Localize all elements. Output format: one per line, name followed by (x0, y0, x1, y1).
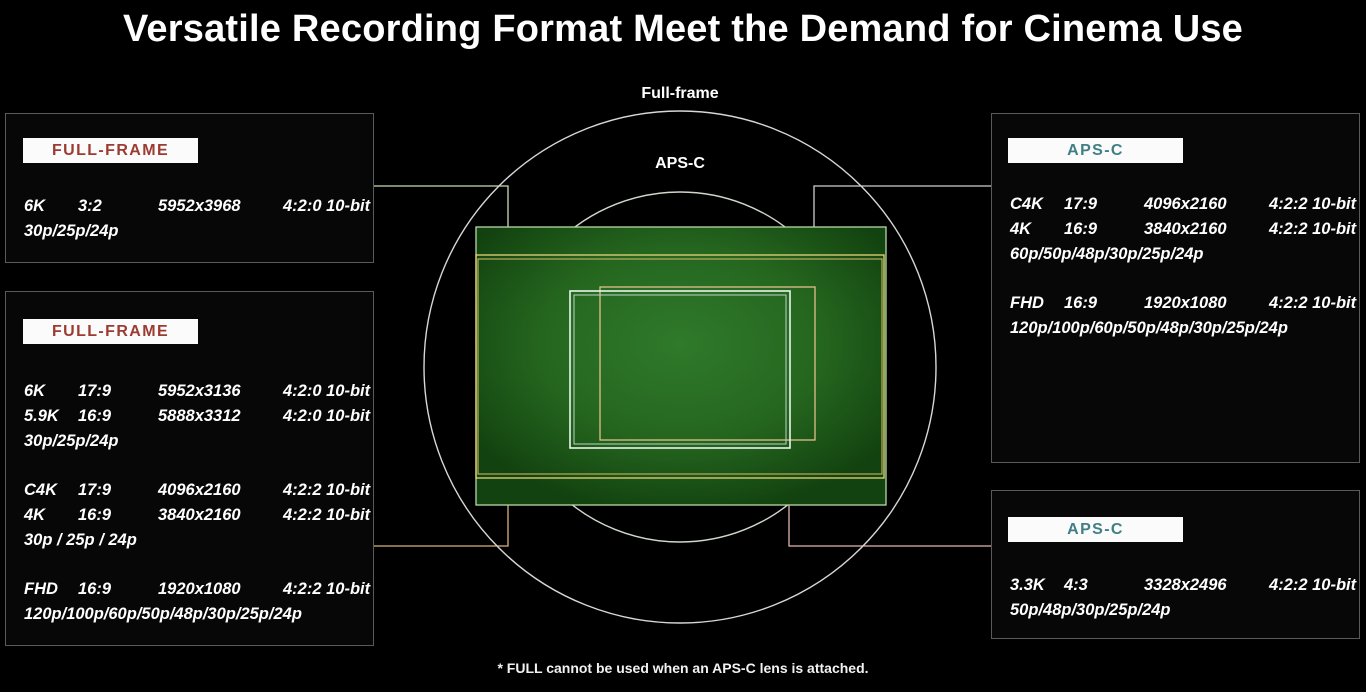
spec-resolution: 3.3K (1010, 573, 1064, 598)
connector-top-left (374, 186, 508, 228)
spec-pixels: 3840x2160 (1144, 217, 1269, 242)
spec-framerates: 50p/48p/30p/25p/24p (1010, 598, 1351, 623)
spec-resolution: FHD (24, 577, 78, 602)
spec-row: 6K17:95952x31364:2:0 10-bit (24, 379, 365, 404)
spec-pixels: 4096x2160 (1144, 192, 1269, 217)
spec-framerates: 60p/50p/48p/30p/25p/24p (1010, 242, 1351, 267)
panel-full-frame-top-left: FULL-FRAME 6K3:25952x39684:2:0 10-bit30p… (5, 113, 374, 263)
spec-resolution: 4K (24, 503, 78, 528)
spec-row: 6K3:25952x39684:2:0 10-bit (24, 194, 365, 219)
spec-pixels: 5952x3968 (158, 194, 283, 219)
spec-row: FHD16:91920x10804:2:2 10-bit (1010, 291, 1351, 316)
spec-framerates: 120p/100p/60p/50p/48p/30p/25p/24p (1010, 316, 1351, 341)
spec-color-format: 4:2:0 10-bit (283, 194, 370, 219)
full-frame-3-2-rect (476, 227, 886, 505)
spec-framerates: 120p/100p/60p/50p/48p/30p/25p/24p (24, 602, 365, 627)
spec-resolution: 6K (24, 194, 78, 219)
spec-aspect-ratio: 4:3 (1064, 573, 1144, 598)
diagram-label-full-frame: Full-frame (540, 85, 820, 103)
spec-color-format: 4:2:0 10-bit (283, 379, 370, 404)
spec-pixels: 3840x2160 (158, 503, 283, 528)
spec-color-format: 4:2:2 10-bit (283, 503, 370, 528)
footnote: * FULL cannot be used when an APS-C lens… (0, 660, 1366, 676)
slide-canvas: Versatile Recording Format Meet the Dema… (0, 0, 1366, 692)
spec-aspect-ratio: 16:9 (78, 404, 158, 429)
spec-resolution: C4K (1010, 192, 1064, 217)
spec-aspect-ratio: 3:2 (78, 194, 158, 219)
spec-resolution: FHD (1010, 291, 1064, 316)
panel-full-frame-bottom-left: FULL-FRAME 6K17:95952x31364:2:0 10-bit5.… (5, 291, 374, 646)
spec-list-bottom-right: 3.3K4:33328x24964:2:2 10-bit50p/48p/30p/… (1010, 573, 1351, 623)
spec-row: 3.3K4:33328x24964:2:2 10-bit (1010, 573, 1351, 598)
spec-row: FHD16:91920x10804:2:2 10-bit (24, 577, 365, 602)
spec-row: C4K17:94096x21604:2:2 10-bit (24, 478, 365, 503)
spec-aspect-ratio: 16:9 (78, 577, 158, 602)
spec-color-format: 4:2:2 10-bit (1269, 573, 1356, 598)
spec-aspect-ratio: 17:9 (78, 478, 158, 503)
spec-aspect-ratio: 16:9 (1064, 291, 1144, 316)
spec-spacer (24, 454, 365, 478)
spec-spacer (1010, 267, 1351, 291)
spec-color-format: 4:2:2 10-bit (283, 577, 370, 602)
badge-aps-c: APS-C (1008, 138, 1183, 163)
spec-color-format: 4:2:2 10-bit (1269, 192, 1356, 217)
spec-color-format: 4:2:2 10-bit (283, 478, 370, 503)
spec-row: 4K16:93840x21604:2:2 10-bit (1010, 217, 1351, 242)
panel-aps-c-top-right: APS-C C4K17:94096x21604:2:2 10-bit4K16:9… (991, 113, 1360, 463)
spec-color-format: 4:2:2 10-bit (1269, 217, 1356, 242)
badge-full-frame: FULL-FRAME (23, 138, 198, 163)
panel-aps-c-bottom-right: APS-C 3.3K4:33328x24964:2:2 10-bit50p/48… (991, 490, 1360, 639)
spec-pixels: 1920x1080 (1144, 291, 1269, 316)
spec-color-format: 4:2:2 10-bit (1269, 291, 1356, 316)
spec-pixels: 5888x3312 (158, 404, 283, 429)
spec-row: 5.9K16:95888x33124:2:0 10-bit (24, 404, 365, 429)
spec-list-bottom-left: 6K17:95952x31364:2:0 10-bit5.9K16:95888x… (24, 379, 365, 627)
badge-full-frame: FULL-FRAME (23, 319, 198, 344)
spec-resolution: 4K (1010, 217, 1064, 242)
spec-framerates: 30p/25p/24p (24, 219, 365, 244)
spec-spacer (24, 553, 365, 577)
spec-framerates: 30p/25p/24p (24, 429, 365, 454)
spec-aspect-ratio: 17:9 (78, 379, 158, 404)
spec-aspect-ratio: 16:9 (1064, 217, 1144, 242)
spec-aspect-ratio: 16:9 (78, 503, 158, 528)
badge-aps-c: APS-C (1008, 517, 1183, 542)
spec-resolution: 5.9K (24, 404, 78, 429)
spec-row: C4K17:94096x21604:2:2 10-bit (1010, 192, 1351, 217)
spec-pixels: 3328x2496 (1144, 573, 1269, 598)
spec-framerates: 30p / 25p / 24p (24, 528, 365, 553)
spec-aspect-ratio: 17:9 (1064, 192, 1144, 217)
spec-list-top-right: C4K17:94096x21604:2:2 10-bit4K16:93840x2… (1010, 192, 1351, 341)
spec-pixels: 4096x2160 (158, 478, 283, 503)
spec-pixels: 1920x1080 (158, 577, 283, 602)
spec-pixels: 5952x3136 (158, 379, 283, 404)
spec-row: 4K16:93840x21604:2:2 10-bit (24, 503, 365, 528)
spec-color-format: 4:2:0 10-bit (283, 404, 370, 429)
spec-resolution: C4K (24, 478, 78, 503)
diagram-label-aps-c: APS-C (540, 155, 820, 173)
spec-resolution: 6K (24, 379, 78, 404)
spec-list-top-left: 6K3:25952x39684:2:0 10-bit30p/25p/24p (24, 194, 365, 244)
